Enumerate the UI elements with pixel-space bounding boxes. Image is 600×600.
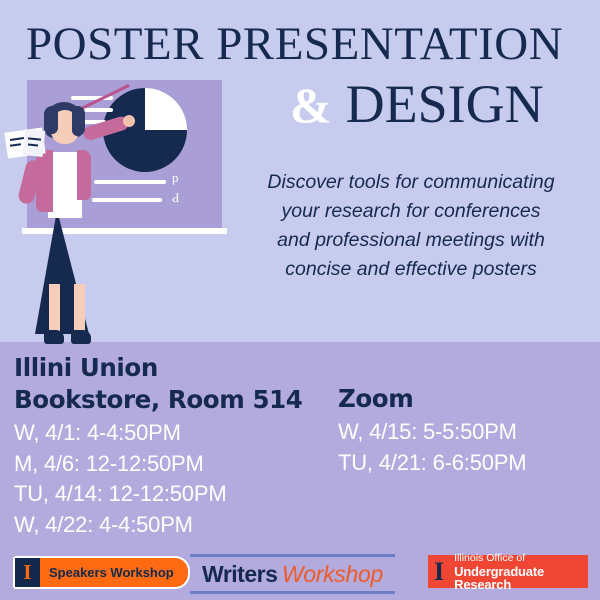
writers-workshop-logo[interactable]: Writers Workshop (190, 554, 395, 594)
venue-name-line: Bookstore, Room 514 (14, 384, 334, 416)
illinois-block-i-icon: I (434, 559, 444, 585)
description-line: your research for conferences (228, 197, 594, 226)
session-list: W, 4/15: 5-5:50PM TU, 4/21: 6-6:50PM (338, 417, 598, 478)
presenter-cardigan-right (77, 150, 91, 200)
page-title-line-1: POSTER PRESENTATION (26, 18, 586, 70)
board-glyph-icon: р (172, 170, 179, 186)
presenter-leg (74, 284, 85, 336)
session-item: M, 4/6: 12-12:50PM (14, 449, 334, 480)
session-item: W, 4/15: 5-5:50PM (338, 417, 598, 448)
ampersand-glyph: & (290, 77, 332, 133)
board-text-line (94, 180, 166, 184)
undergraduate-research-logo[interactable]: I Illinois Office of Undergraduate Resea… (428, 555, 588, 588)
presenter-leg (49, 284, 60, 336)
presenter-hair-back (72, 106, 85, 136)
venue-zoom: Zoom W, 4/15: 5-5:50PM TU, 4/21: 6-6:50P… (338, 383, 598, 478)
undergraduate-research-text: Illinois Office of Undergraduate Researc… (454, 552, 588, 591)
presenter-shoe (44, 330, 64, 344)
presenter-hand-pointer (123, 115, 135, 127)
page-title-design-word: DESIGN (346, 74, 544, 134)
description-line: concise and effective posters (228, 255, 594, 284)
session-list: W, 4/1: 4-4:50PM M, 4/6: 12-12:50PM TU, … (14, 418, 334, 540)
session-item: TU, 4/14: 12-12:50PM (14, 479, 334, 510)
writers-workshop-word-2: Workshop (282, 561, 383, 587)
venue-name: Zoom (338, 383, 598, 415)
presenter-shoe (71, 330, 91, 344)
notes-paper-fold (23, 129, 46, 157)
writers-workshop-word-1: Writers (202, 561, 277, 587)
speakers-workshop-logo[interactable]: I Speakers Workshop (13, 556, 190, 589)
page-title-line-2: &DESIGN (290, 74, 544, 135)
description-line: and professional meetings with (228, 226, 594, 255)
venue-name: Illini Union Bookstore, Room 514 (14, 352, 334, 416)
poster-canvas: POSTER PRESENTATION &DESIGN Discover too… (0, 0, 600, 600)
session-item: TU, 4/21: 6-6:50PM (338, 448, 598, 479)
speakers-workshop-label: Speakers Workshop (49, 565, 174, 580)
presenter-hair-front (44, 106, 58, 134)
venue-illini-union: Illini Union Bookstore, Room 514 W, 4/1:… (14, 352, 334, 540)
description-line: Discover tools for communicating (228, 168, 594, 197)
presenter-cardigan-left (36, 150, 53, 212)
board-glyph-icon: Ԁ (172, 190, 179, 206)
office-line: Undergraduate Research (454, 565, 588, 591)
venue-name-line: Zoom (338, 383, 598, 415)
footer-logo-bar: I Speakers Workshop Writers Workshop I I… (0, 552, 600, 600)
description-text: Discover tools for communicating your re… (228, 168, 594, 284)
venue-name-line: Illini Union (14, 352, 334, 384)
board-text-line (92, 198, 162, 202)
session-item: W, 4/1: 4-4:50PM (14, 418, 334, 449)
illinois-block-i-icon: I (15, 558, 40, 587)
presenter-illustration: р Ԁ (0, 72, 232, 342)
block-i-glyph: I (23, 562, 31, 583)
session-item: W, 4/22: 4-4:50PM (14, 510, 334, 541)
